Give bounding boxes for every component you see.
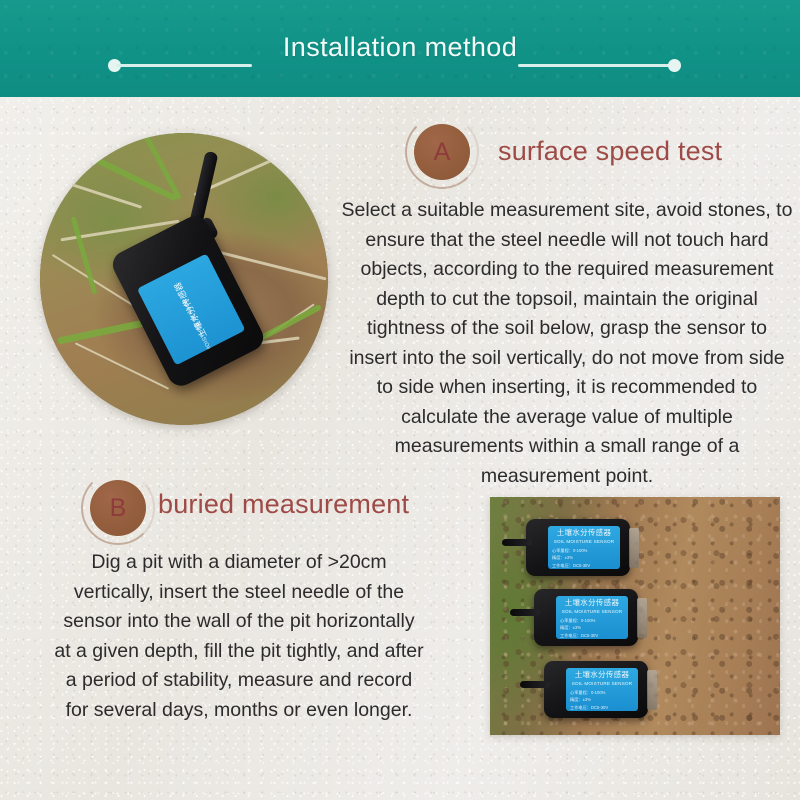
- soil-moisture-sensor: 土壤水分传感器 SOIL MOISTURE SENSOR 心率量程：0-100%…: [526, 519, 630, 576]
- sensor-spec-line: 工作电压：DC5-30V: [548, 563, 620, 568]
- sensor-spec-line: 精度：±3%: [556, 625, 628, 630]
- sensor-label-cn: 土壤水分传感器: [575, 670, 630, 679]
- sensor-label-en: SOIL MOISTURE SENSOR: [173, 283, 229, 366]
- sensor-cable: [520, 681, 550, 688]
- sensor-label: 土壤水分传感器 SOIL MOISTURE SENSOR 心率量程：0-100%…: [566, 668, 638, 711]
- rule-dot-right: [668, 59, 681, 72]
- sensor-label-en: SOIL MOISTURE SENSOR: [572, 681, 633, 686]
- steel-needles: [647, 670, 657, 710]
- section-title-b: buried measurement: [158, 488, 409, 520]
- section-badge-b: B: [90, 480, 146, 536]
- rule-left: [116, 64, 252, 67]
- sensor-label-en: SOIL MOISTURE SENSOR: [554, 539, 615, 544]
- sensor-spec-line: 心率量程：0-100%: [566, 690, 638, 695]
- section-body-b: Dig a pit with a diameter of >20cm verti…: [8, 548, 470, 725]
- steel-needles: [629, 528, 639, 568]
- section-body-a: Select a suitable measurement site, avoi…: [332, 196, 800, 491]
- sensor-label: 土壤水分传感器 SOIL MOISTURE SENSOR 心率量程：0-100%…: [556, 596, 628, 639]
- photo-surface-test: 土壤水分传感器 SOIL MOISTURE SENSOR: [40, 133, 328, 425]
- sensor-spec-line: 心率量程：0-100%: [548, 548, 620, 553]
- sensor-label: 土壤水分传感器 SOIL MOISTURE SENSOR: [137, 253, 246, 365]
- sensor-label-en: SOIL MOISTURE SENSOR: [562, 609, 623, 614]
- soil-moisture-sensor: 土壤水分传感器 SOIL MOISTURE SENSOR 心率量程：0-100%…: [534, 589, 638, 646]
- rule-right: [518, 64, 676, 67]
- section-badge-a: A: [414, 124, 470, 180]
- sensor-label-cn: 土壤水分传感器: [565, 598, 620, 607]
- sensor-spec-line: 精度：±3%: [548, 555, 620, 560]
- sensor-label-cn: 土壤水分传感器: [557, 528, 612, 537]
- page-title: Installation method: [0, 30, 800, 64]
- sensor-spec-line: 工作电压：DC5-30V: [556, 633, 628, 638]
- sensor-cable: [510, 609, 540, 616]
- sensor-spec-line: 精度：±3%: [566, 697, 638, 702]
- header-banner: Installation method: [0, 0, 800, 97]
- soil-moisture-sensor: 土壤水分传感器 SOIL MOISTURE SENSOR 心率量程：0-100%…: [544, 661, 648, 718]
- sensor-cable: [502, 539, 532, 546]
- sensor-spec-line: 工作电压：DC5-30V: [566, 705, 638, 710]
- sensor-label: 土壤水分传感器 SOIL MOISTURE SENSOR 心率量程：0-100%…: [548, 526, 620, 569]
- photo-buried-measurement: 土壤水分传感器 SOIL MOISTURE SENSOR 心率量程：0-100%…: [490, 497, 780, 735]
- steel-needles: [637, 598, 647, 638]
- sensor-spec-line: 心率量程：0-100%: [556, 618, 628, 623]
- section-title-a: surface speed test: [498, 135, 722, 167]
